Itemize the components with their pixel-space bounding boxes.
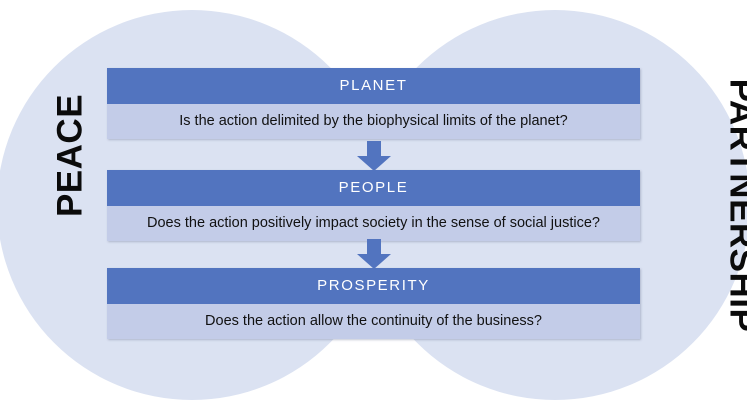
diagram-canvas: PEACE PARTNERSHIP PLANET Is the action d…: [0, 0, 747, 409]
panel-prosperity: PROSPERITY Does the action allow the con…: [107, 268, 640, 339]
down-arrow-icon: [357, 141, 391, 171]
partnership-label: PARTNERSHIP: [725, 56, 747, 356]
panel-planet-question: Is the action delimited by the biophysic…: [107, 104, 640, 139]
down-arrow-icon: [357, 239, 391, 269]
panel-planet-header: PLANET: [107, 68, 640, 104]
panel-prosperity-header: PROSPERITY: [107, 268, 640, 304]
panel-prosperity-question: Does the action allow the continuity of …: [107, 304, 640, 339]
panel-people: PEOPLE Does the action positively impact…: [107, 170, 640, 241]
peace-label: PEACE: [53, 86, 88, 226]
panel-people-question: Does the action positively impact societ…: [107, 206, 640, 241]
panel-people-header: PEOPLE: [107, 170, 640, 206]
panel-planet: PLANET Is the action delimited by the bi…: [107, 68, 640, 139]
